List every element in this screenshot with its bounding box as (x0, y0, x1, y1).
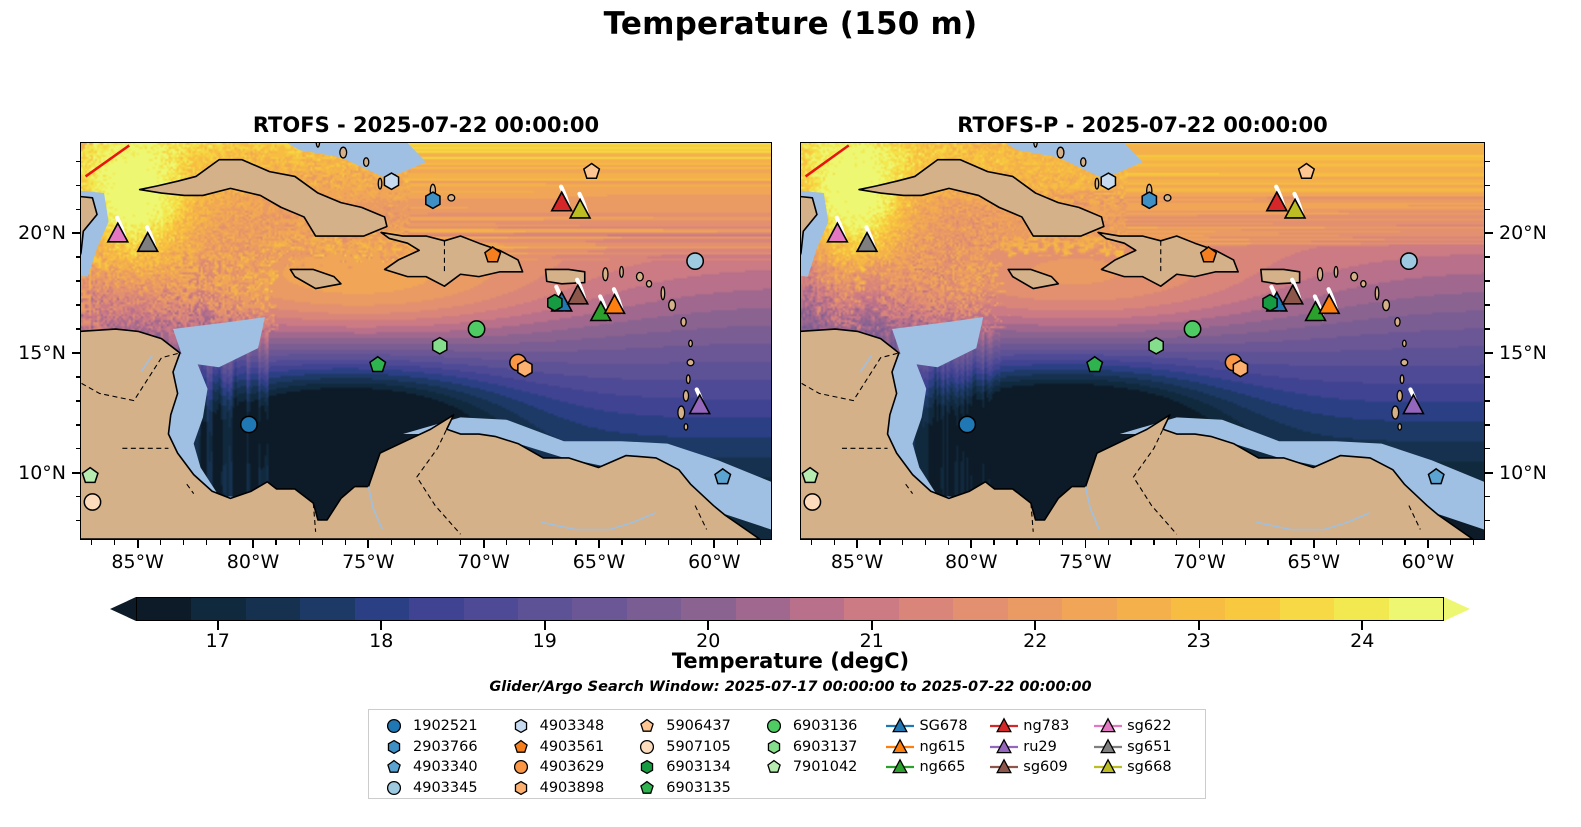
glider-legend-marker (989, 757, 1019, 777)
y-tick-minor (76, 400, 81, 401)
y-tick-label: 15°N (1499, 342, 1547, 364)
legend-column-6: sg622sg651sg668 (1093, 716, 1197, 798)
x-tick-label: 70°W (457, 551, 509, 573)
y-tick-minor (1485, 376, 1490, 377)
argo-marker-4903348[interactable] (1101, 173, 1115, 189)
legend-column-5: ng783ru29sg609 (989, 716, 1093, 798)
legend-marker (379, 737, 409, 757)
colorbar-band-1 (191, 598, 245, 620)
y-tick-minor (1485, 209, 1490, 210)
x-tick-minor (1267, 540, 1268, 545)
y-tick-minor (76, 161, 81, 162)
x-tick-minor (1245, 540, 1246, 545)
island (1057, 147, 1064, 158)
y-tick-minor (76, 280, 81, 281)
y-tick-minor (1485, 400, 1490, 401)
x-tick-major (137, 540, 139, 548)
map-panel-rtofs[interactable] (80, 142, 772, 540)
x-tick-major (1199, 540, 1201, 548)
x-tick-minor (299, 540, 300, 545)
colorbar-band-7 (518, 598, 572, 620)
island (661, 287, 665, 300)
colorbar-tick (380, 621, 382, 630)
y-tick-label: 20°N (18, 222, 66, 244)
island (1317, 268, 1322, 281)
colorbar-band-8 (572, 598, 626, 620)
colorbar[interactable] (110, 597, 1470, 621)
legend-label: 7901042 (789, 759, 858, 775)
argo-marker-1902521[interactable] (241, 416, 257, 432)
x-tick-major (970, 540, 972, 548)
legend-marker (989, 737, 1019, 757)
argo-marker-6903134[interactable] (1263, 295, 1277, 311)
legend-marker (759, 757, 789, 777)
x-tick-label: 60°W (688, 551, 740, 573)
legend-label: 5906437 (662, 718, 731, 734)
y-tick-minor (1485, 161, 1490, 162)
legend-marker (379, 716, 409, 736)
glider-legend-marker (1093, 737, 1123, 757)
island (340, 147, 347, 158)
argo-marker-2903766[interactable] (1142, 192, 1156, 208)
x-tick-minor (1016, 540, 1017, 545)
island (678, 406, 685, 419)
legend-item-SG678[interactable]: SG678 (885, 716, 989, 737)
x-tick-minor (760, 540, 761, 545)
legend-label: 4903629 (536, 759, 605, 775)
x-tick-minor (391, 540, 392, 545)
colorbar-tick (871, 621, 873, 630)
map-panel-rtofs-p[interactable] (800, 142, 1485, 540)
x-tick-minor (902, 540, 903, 545)
x-tick-minor (229, 540, 230, 545)
colorbar-band-13 (844, 598, 898, 620)
y-tick-minor (76, 424, 81, 425)
legend-item-1902521[interactable]: 1902521 (379, 716, 506, 737)
colorbar-band-15 (953, 598, 1007, 620)
y-tick-major (1485, 232, 1493, 234)
x-tick-major (713, 540, 715, 548)
island (1361, 281, 1366, 287)
x-tick-minor (1473, 540, 1474, 545)
island (681, 318, 686, 327)
argo-legend-marker (506, 757, 536, 777)
legend-item-5907105[interactable]: 5907105 (632, 737, 759, 758)
legend[interactable]: 1902521290376649033404903345490334849035… (368, 709, 1206, 799)
island (1398, 424, 1402, 430)
legend-marker (506, 716, 536, 736)
argo-marker-4903348[interactable] (384, 173, 398, 189)
colorbar-tick (217, 621, 219, 630)
argo-legend-marker (379, 778, 409, 798)
island (686, 375, 690, 384)
x-tick-major (1427, 540, 1429, 548)
x-tick-label: 70°W (1173, 551, 1225, 573)
legend-item-sg651[interactable]: sg651 (1093, 737, 1197, 758)
glider-legend-marker (885, 716, 915, 736)
x-tick-major (1313, 540, 1315, 548)
y-tick-minor (1485, 448, 1490, 449)
legend-marker (632, 778, 662, 798)
island (1383, 300, 1390, 311)
legend-marker (506, 778, 536, 798)
glider-legend-marker (989, 716, 1019, 736)
legend-column-1: 4903348490356149036294903898 (506, 716, 633, 798)
argo-legend-marker (506, 778, 536, 798)
colorbar-tick (544, 621, 546, 630)
island (1095, 178, 1099, 189)
y-tick-minor (76, 520, 81, 521)
legend-item-ng615[interactable]: ng615 (885, 737, 989, 758)
island (684, 424, 688, 430)
colorbar-arrow-high (1444, 597, 1470, 621)
legend-marker (379, 778, 409, 798)
y-tick-minor (76, 209, 81, 210)
legend-item-6903135[interactable]: 6903135 (632, 778, 759, 799)
y-tick-major (72, 352, 80, 354)
colorbar-band-20 (1225, 598, 1279, 620)
x-tick-major (367, 540, 369, 548)
legend-label: ru29 (1019, 739, 1057, 755)
colorbar-tick-label: 17 (206, 630, 230, 652)
colorbar-tick (1361, 621, 1363, 630)
x-tick-minor (529, 540, 530, 545)
colorbar-tick-label: 19 (533, 630, 557, 652)
x-tick-minor (552, 540, 553, 545)
x-tick-minor (1359, 540, 1360, 545)
y-tick-minor (76, 376, 81, 377)
x-tick-minor (1222, 540, 1223, 545)
colorbar-tick (1198, 621, 1200, 630)
legend-column-2: 5906437590710569031346903135 (632, 716, 759, 798)
island (1375, 287, 1379, 300)
x-tick-minor (1153, 540, 1154, 545)
x-tick-major (598, 540, 600, 548)
x-tick-minor (834, 540, 835, 545)
legend-item-sg622[interactable]: sg622 (1093, 716, 1197, 737)
legend-marker (759, 737, 789, 757)
y-tick-minor (1485, 328, 1490, 329)
legend-item-2903766[interactable]: 2903766 (379, 737, 506, 758)
legend-label: ng615 (915, 739, 965, 755)
legend-label: sg651 (1123, 739, 1171, 755)
argo-marker-5907105[interactable] (84, 494, 100, 510)
x-tick-minor (275, 540, 276, 545)
y-tick-label: 10°N (1499, 462, 1547, 484)
y-tick-minor (1485, 520, 1490, 521)
x-tick-minor (668, 540, 669, 545)
argo-legend-marker (379, 737, 409, 757)
x-tick-minor (1290, 540, 1291, 545)
argo-marker-5907105[interactable] (804, 494, 820, 510)
y-tick-minor (1485, 424, 1490, 425)
legend-marker (1093, 757, 1123, 777)
y-tick-major (1485, 352, 1493, 354)
legend-item-ng783[interactable]: ng783 (989, 716, 1093, 737)
x-tick-major (1085, 540, 1087, 548)
y-tick-minor (1485, 256, 1490, 257)
panel-right-title: RTOFS-P - 2025-07-22 00:00:00 (800, 113, 1485, 137)
x-tick-minor (1404, 540, 1405, 545)
island (1397, 390, 1402, 401)
legend-label: SG678 (915, 718, 967, 734)
x-tick-label: 85°W (831, 551, 883, 573)
map-raster (801, 143, 1484, 539)
x-tick-minor (879, 540, 880, 545)
colorbar-band-0 (137, 598, 191, 620)
argo-marker-4903898[interactable] (1233, 360, 1247, 376)
argo-marker-6903134[interactable] (548, 295, 562, 311)
legend-label: 4903561 (536, 739, 605, 755)
island (636, 272, 643, 281)
legend-column-3: 690313669031377901042 (759, 716, 886, 798)
colorbar-band-2 (246, 598, 300, 620)
island (364, 158, 369, 167)
x-tick-label: 65°W (1288, 551, 1340, 573)
island (1400, 375, 1404, 384)
x-tick-label: 75°W (1059, 551, 1111, 573)
x-tick-minor (1108, 540, 1109, 545)
x-tick-minor (460, 540, 461, 545)
legend-item-sg609[interactable]: sg609 (989, 757, 1093, 778)
island (687, 359, 694, 365)
island (448, 195, 455, 201)
legend-column-4: SG678ng615ng665 (885, 716, 989, 798)
colorbar-band-22 (1334, 598, 1388, 620)
legend-marker (632, 737, 662, 757)
y-tick-minor (76, 304, 81, 305)
y-tick-minor (76, 256, 81, 257)
colorbar-band-6 (464, 598, 518, 620)
colorbar-band-9 (627, 598, 681, 620)
colorbar-band-16 (1008, 598, 1062, 620)
argo-legend-marker (379, 757, 409, 777)
x-tick-minor (1062, 540, 1063, 545)
legend-item-6903136[interactable]: 6903136 (759, 716, 886, 737)
legend-marker (632, 716, 662, 736)
y-tick-major (1485, 472, 1493, 474)
island (1334, 266, 1338, 277)
x-tick-minor (993, 540, 994, 545)
x-tick-minor (1450, 540, 1451, 545)
legend-marker (759, 716, 789, 736)
legend-marker (989, 716, 1019, 736)
legend-column-0: 1902521290376649033404903345 (379, 716, 506, 798)
legend-label: ng665 (915, 759, 965, 775)
legend-item-4903345[interactable]: 4903345 (379, 778, 506, 799)
legend-label: 2903766 (409, 739, 478, 755)
argo-marker-6903137[interactable] (1149, 338, 1163, 354)
legend-marker (506, 737, 536, 757)
island (1401, 359, 1408, 365)
x-tick-minor (160, 540, 161, 545)
y-tick-minor (76, 496, 81, 497)
colorbar-tick-label: 20 (696, 630, 720, 652)
legend-marker (379, 757, 409, 777)
colorbar-tick-label: 23 (1187, 630, 1211, 652)
x-tick-label: 85°W (111, 551, 163, 573)
glider-legend-marker (885, 757, 915, 777)
legend-label: 6903136 (789, 718, 858, 734)
x-tick-minor (114, 540, 115, 545)
legend-label: 1902521 (409, 718, 478, 734)
island (1351, 272, 1358, 281)
legend-marker (885, 716, 915, 736)
legend-item-4903561[interactable]: 4903561 (506, 737, 633, 758)
x-tick-major (856, 540, 858, 548)
y-tick-minor (76, 448, 81, 449)
island (1392, 406, 1399, 419)
y-tick-major (72, 232, 80, 234)
x-tick-minor (737, 540, 738, 545)
colorbar-band-23 (1389, 598, 1443, 620)
y-tick-minor (1485, 496, 1490, 497)
argo-legend-marker (506, 737, 536, 757)
legend-label: sg668 (1123, 759, 1171, 775)
argo-marker-2903766[interactable] (426, 192, 440, 208)
legend-item-4903898[interactable]: 4903898 (506, 778, 633, 799)
colorbar-band-21 (1280, 598, 1334, 620)
legend-label: 4903345 (409, 780, 478, 796)
colorbar-band-11 (736, 598, 790, 620)
island (1395, 318, 1400, 327)
x-tick-minor (322, 540, 323, 545)
legend-label: ng783 (1019, 718, 1069, 734)
glider-legend-marker (885, 737, 915, 757)
colorbar-band-14 (899, 598, 953, 620)
argo-marker-6903137[interactable] (433, 338, 447, 354)
legend-item-sg668[interactable]: sg668 (1093, 757, 1197, 778)
island (620, 266, 624, 277)
island (603, 268, 608, 281)
island (1403, 340, 1407, 346)
x-tick-label: 65°W (573, 551, 625, 573)
island (316, 143, 320, 147)
legend-marker (885, 757, 915, 777)
legend-item-7901042[interactable]: 7901042 (759, 757, 886, 778)
island (669, 300, 676, 311)
legend-item-4903340[interactable]: 4903340 (379, 757, 506, 778)
legend-item-6903137[interactable]: 6903137 (759, 737, 886, 758)
colorbar-tick-label: 18 (369, 630, 393, 652)
x-tick-minor (414, 540, 415, 545)
argo-legend-marker (632, 757, 662, 777)
colorbar-band-4 (355, 598, 409, 620)
y-tick-minor (76, 185, 81, 186)
x-tick-minor (506, 540, 507, 545)
legend-item-ru29[interactable]: ru29 (989, 737, 1093, 758)
colorbar-band-17 (1062, 598, 1116, 620)
glider-legend-marker (1093, 716, 1123, 736)
argo-marker-6903136[interactable] (1184, 321, 1200, 337)
legend-label: 6903135 (662, 780, 731, 796)
x-tick-minor (925, 540, 926, 545)
page-title: Temperature (150 m) (0, 6, 1581, 42)
x-tick-minor (1382, 540, 1383, 545)
search-window-text: Glider/Argo Search Window: 2025-07-17 00… (0, 679, 1581, 695)
colorbar-tick-label: 21 (860, 630, 884, 652)
colorbar-band-5 (409, 598, 463, 620)
colorbar-tick (707, 621, 709, 630)
legend-item-4903629[interactable]: 4903629 (506, 757, 633, 778)
legend-item-5906437[interactable]: 5906437 (632, 716, 759, 737)
legend-label: 4903898 (536, 780, 605, 796)
x-tick-minor (645, 540, 646, 545)
x-tick-minor (575, 540, 576, 545)
legend-marker (632, 757, 662, 777)
legend-grid: 1902521290376649033404903345490334849035… (379, 716, 1197, 798)
y-tick-label: 15°N (18, 342, 66, 364)
argo-marker-4903345[interactable] (1401, 253, 1417, 269)
legend-marker (989, 757, 1019, 777)
legend-label: sg609 (1019, 759, 1067, 775)
map-raster (81, 143, 771, 539)
x-tick-label: 80°W (227, 551, 279, 573)
argo-legend-marker (759, 737, 789, 757)
island (1164, 195, 1171, 201)
x-tick-minor (183, 540, 184, 545)
colorbar-label: Temperature (degC) (0, 649, 1581, 673)
colorbar-tick-label: 22 (1023, 630, 1047, 652)
legend-item-6903134[interactable]: 6903134 (632, 757, 759, 778)
colorbar-band-10 (681, 598, 735, 620)
x-tick-minor (691, 540, 692, 545)
x-tick-minor (437, 540, 438, 545)
x-tick-minor (206, 540, 207, 545)
argo-marker-1902521[interactable] (959, 416, 975, 432)
y-tick-label: 20°N (1499, 222, 1547, 244)
x-tick-minor (621, 540, 622, 545)
x-tick-minor (1130, 540, 1131, 545)
colorbar-band-3 (300, 598, 354, 620)
y-tick-minor (1485, 304, 1490, 305)
y-tick-minor (76, 328, 81, 329)
x-tick-minor (345, 540, 346, 545)
colorbar-band-19 (1171, 598, 1225, 620)
colorbar-arrow-low (110, 597, 136, 621)
argo-legend-marker (632, 737, 662, 757)
x-tick-label: 80°W (945, 551, 997, 573)
argo-legend-marker (506, 716, 536, 736)
legend-item-ng665[interactable]: ng665 (885, 757, 989, 778)
argo-legend-marker (379, 716, 409, 736)
legend-label: 6903137 (789, 739, 858, 755)
x-tick-major (252, 540, 254, 548)
legend-marker (1093, 737, 1123, 757)
legend-label: 4903340 (409, 759, 478, 775)
argo-marker-4903345[interactable] (687, 253, 703, 269)
legend-marker (1093, 716, 1123, 736)
argo-legend-marker (759, 757, 789, 777)
x-tick-minor (91, 540, 92, 545)
panel-left-title: RTOFS - 2025-07-22 00:00:00 (80, 113, 772, 137)
x-tick-label: 60°W (1402, 551, 1454, 573)
y-tick-label: 10°N (18, 462, 66, 484)
argo-legend-marker (759, 716, 789, 736)
argo-marker-4903898[interactable] (518, 360, 532, 376)
glider-legend-marker (1093, 757, 1123, 777)
island (646, 281, 651, 287)
island (683, 390, 688, 401)
island (1034, 143, 1038, 147)
island (1081, 158, 1086, 167)
colorbar-band-18 (1117, 598, 1171, 620)
x-tick-minor (1039, 540, 1040, 545)
island (378, 178, 382, 189)
legend-item-4903348[interactable]: 4903348 (506, 716, 633, 737)
legend-label: 4903348 (536, 718, 605, 734)
argo-marker-6903136[interactable] (468, 321, 484, 337)
